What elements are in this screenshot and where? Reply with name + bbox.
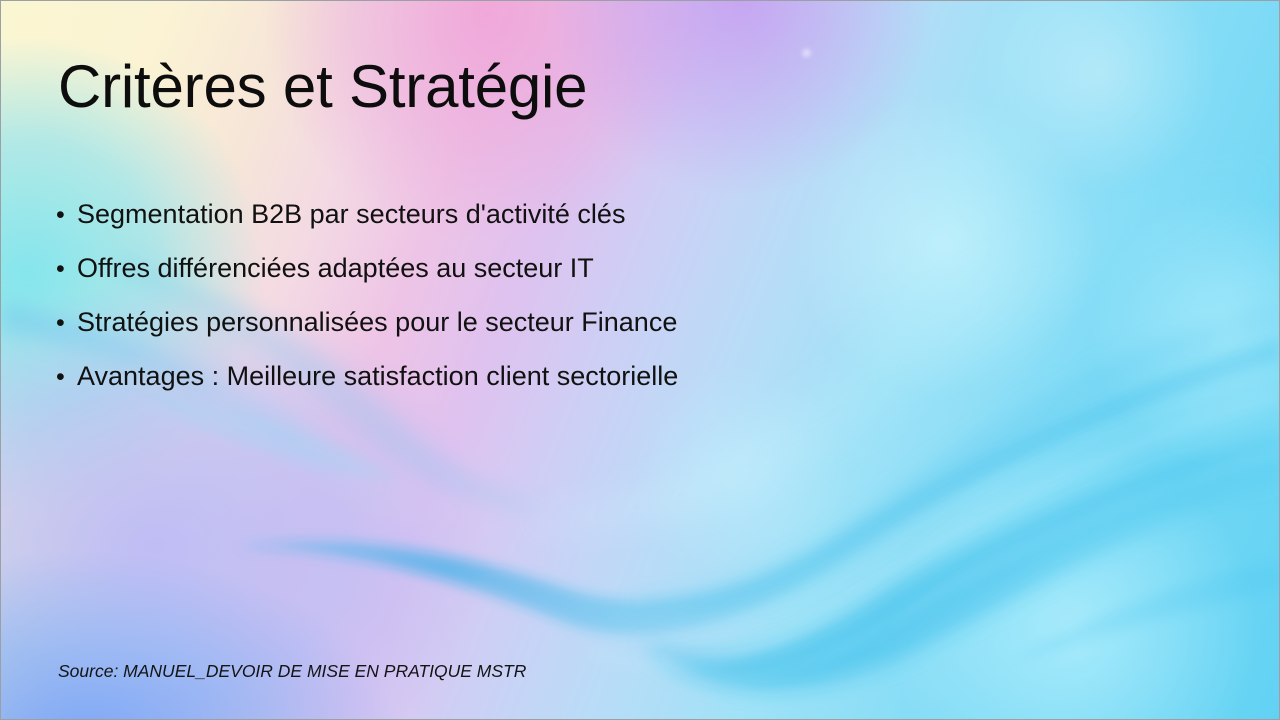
bullet-marker-icon: • bbox=[56, 242, 77, 296]
list-item-label: Avantages : Meilleure satisfaction clien… bbox=[77, 349, 678, 403]
list-item-label: Offres différenciées adaptées au secteur… bbox=[77, 241, 594, 295]
bullet-list: • Segmentation B2B par secteurs d'activi… bbox=[56, 187, 1176, 403]
list-item-label: Stratégies personnalisées pour le secteu… bbox=[77, 295, 677, 349]
list-item: • Avantages : Meilleure satisfaction cli… bbox=[56, 349, 1176, 403]
bullet-marker-icon: • bbox=[56, 350, 77, 404]
list-item: • Stratégies personnalisées pour le sect… bbox=[56, 295, 1176, 349]
bullet-marker-icon: • bbox=[56, 296, 77, 350]
list-item-label: Segmentation B2B par secteurs d'activité… bbox=[77, 187, 625, 241]
list-item: • Offres différenciées adaptées au secte… bbox=[56, 241, 1176, 295]
presentation-slide: Critères et Stratégie • Segmentation B2B… bbox=[0, 0, 1280, 720]
list-item: • Segmentation B2B par secteurs d'activi… bbox=[56, 187, 1176, 241]
bullet-marker-icon: • bbox=[56, 188, 77, 242]
page-title: Critères et Stratégie bbox=[58, 57, 587, 117]
slide-content: Critères et Stratégie • Segmentation B2B… bbox=[1, 1, 1279, 719]
source-citation: Source: MANUEL_DEVOIR DE MISE EN PRATIQU… bbox=[58, 661, 526, 682]
